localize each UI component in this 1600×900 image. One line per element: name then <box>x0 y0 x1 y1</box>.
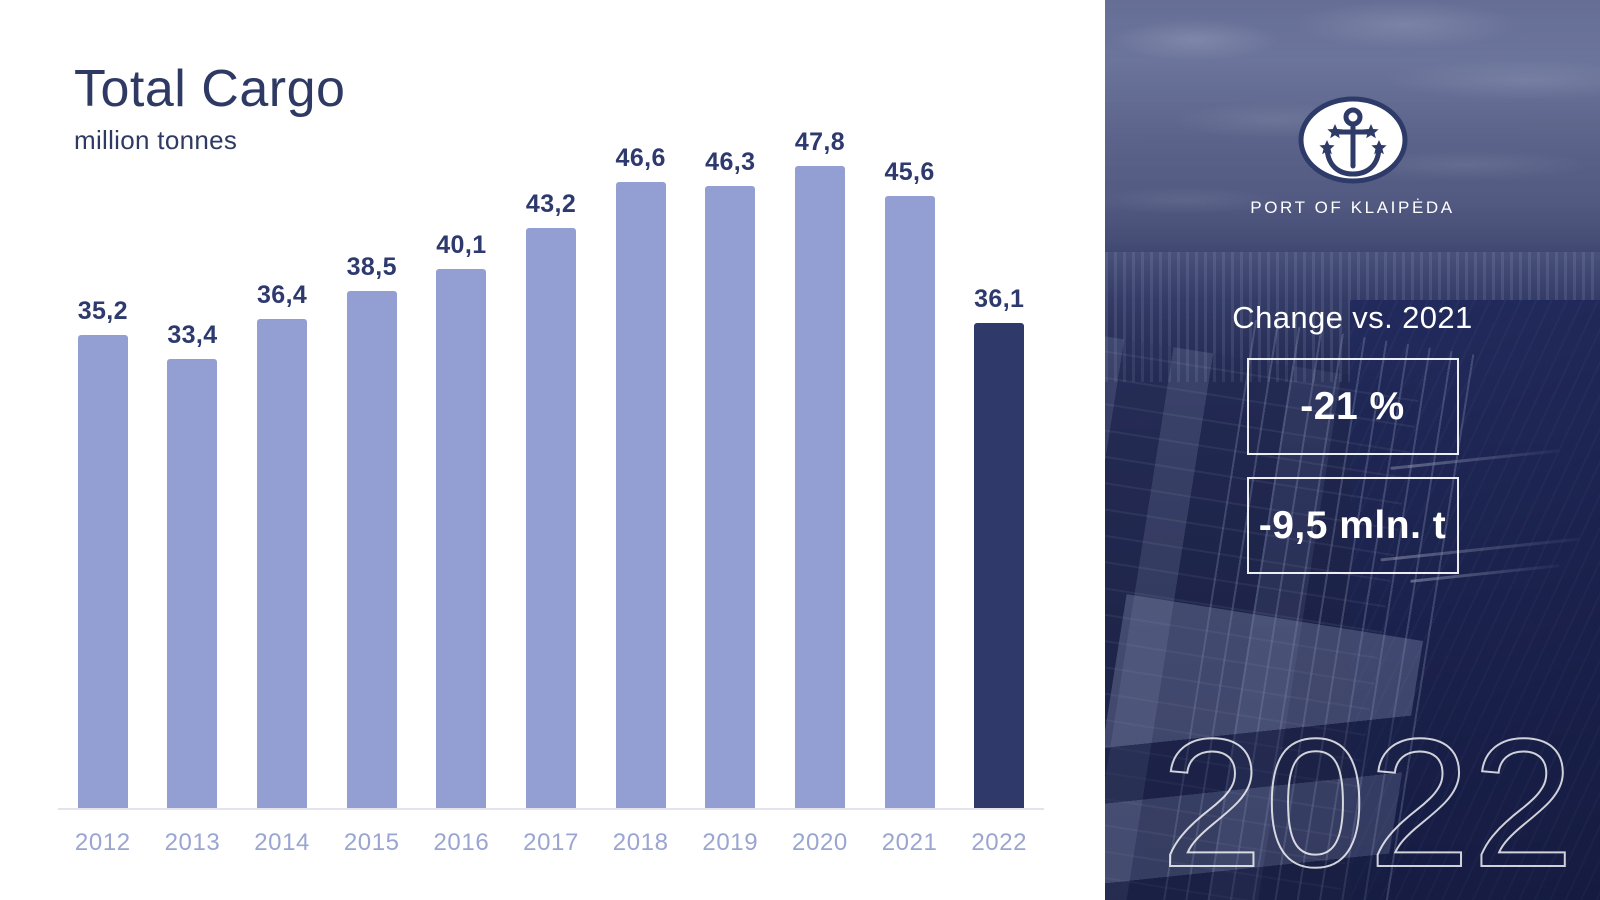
bar-slot: 46,3 <box>685 120 775 808</box>
x-tick-label-2016: 2016 <box>417 818 507 868</box>
x-tick-label-2017: 2017 <box>506 818 596 868</box>
stat-box-absolute-change: -9,5 mln. t <box>1247 477 1459 574</box>
bar-value-label: 36,4 <box>237 281 327 310</box>
bar[interactable] <box>795 166 845 808</box>
page-title: Total Cargo <box>74 62 345 117</box>
bar-slot: 33,4 <box>148 120 238 808</box>
bar-value-label: 43,2 <box>506 190 596 219</box>
x-axis-tick-labels: 2012201320142015201620172018201920202021… <box>58 818 1044 868</box>
bar[interactable] <box>167 359 217 808</box>
bar-slot: 36,1 <box>954 120 1044 808</box>
bar-value-label: 33,4 <box>148 321 238 350</box>
x-tick-label-2022: 2022 <box>954 818 1044 868</box>
bar[interactable] <box>885 196 935 808</box>
photo-panel: PORT OF KLAIPĖDA Change vs. 2021 -21 % -… <box>1105 0 1600 900</box>
stat-box-percent-change: -21 % <box>1247 358 1459 455</box>
x-tick-label-2021: 2021 <box>865 818 955 868</box>
bar[interactable] <box>616 182 666 808</box>
bar[interactable] <box>78 335 128 808</box>
bar-chart-plot-area: 35,233,436,438,540,143,246,646,347,845,6… <box>58 120 1044 808</box>
bar-slot: 45,6 <box>865 120 955 808</box>
bar-slot: 38,5 <box>327 120 417 808</box>
x-tick-label-2012: 2012 <box>58 818 148 868</box>
bar-slot: 40,1 <box>417 120 507 808</box>
bar[interactable] <box>257 319 307 808</box>
bar-value-label: 36,1 <box>954 285 1044 314</box>
logo-wordmark: PORT OF KLAIPĖDA <box>1250 198 1454 218</box>
absolute-change-value: -9,5 mln. t <box>1259 504 1447 548</box>
bar-value-label: 46,3 <box>685 148 775 177</box>
bar-series: 35,233,436,438,540,143,246,646,347,845,6… <box>58 120 1044 808</box>
x-tick-label-2020: 2020 <box>775 818 865 868</box>
bar-slot: 35,2 <box>58 120 148 808</box>
bar-value-label: 35,2 <box>58 297 148 326</box>
percent-change-value: -21 % <box>1300 385 1404 429</box>
bar-value-label: 45,6 <box>865 158 955 187</box>
anchor-crest-icon <box>1297 96 1409 184</box>
x-tick-label-2014: 2014 <box>237 818 327 868</box>
bar-slot: 43,2 <box>506 120 596 808</box>
bar-slot: 46,6 <box>596 120 686 808</box>
bar-slot: 47,8 <box>775 120 865 808</box>
bar-value-label: 46,6 <box>596 144 686 173</box>
bar[interactable] <box>526 228 576 808</box>
x-tick-label-2019: 2019 <box>685 818 775 868</box>
x-tick-label-2015: 2015 <box>327 818 417 868</box>
bar[interactable] <box>705 186 755 808</box>
change-summary: Change vs. 2021 -21 % -9,5 mln. t <box>1105 300 1600 574</box>
chart-panel: Total Cargo million tonnes 35,233,436,43… <box>0 0 1105 900</box>
x-tick-label-2018: 2018 <box>596 818 686 868</box>
infographic-page: Total Cargo million tonnes 35,233,436,43… <box>0 0 1600 900</box>
bar-slot: 36,4 <box>237 120 327 808</box>
change-caption: Change vs. 2021 <box>1232 300 1472 336</box>
bar[interactable] <box>974 323 1024 808</box>
bar-value-label: 47,8 <box>775 128 865 157</box>
x-axis-line <box>58 808 1044 810</box>
bar[interactable] <box>347 291 397 808</box>
bar[interactable] <box>436 269 486 808</box>
x-tick-label-2013: 2013 <box>148 818 238 868</box>
bar-value-label: 40,1 <box>417 231 507 260</box>
port-logo: PORT OF KLAIPĖDA <box>1105 96 1600 218</box>
bar-value-label: 38,5 <box>327 253 417 282</box>
